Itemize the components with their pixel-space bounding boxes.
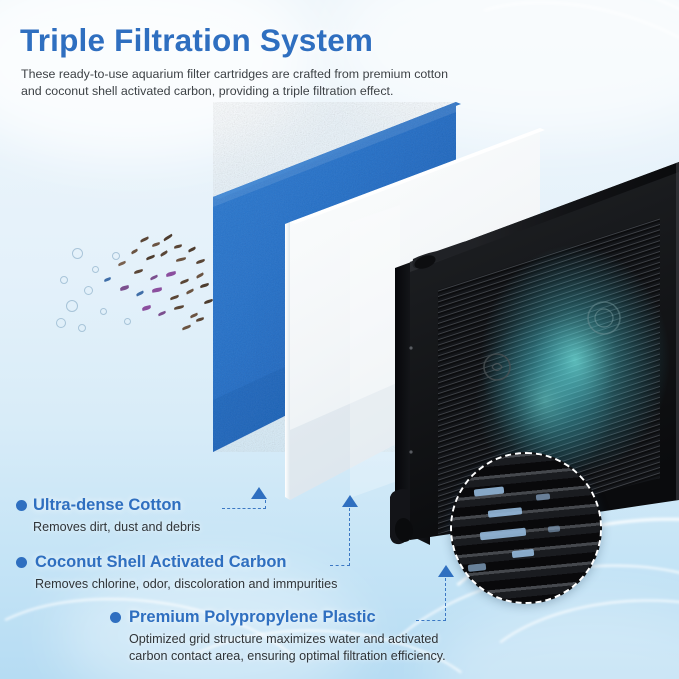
leader-line-2-riser xyxy=(349,508,350,566)
bullet-dot-icon xyxy=(16,500,27,511)
leader-line-1 xyxy=(222,508,266,509)
leader-arrow-2 xyxy=(342,495,358,507)
callout-ultra-dense-cotton: Ultra-dense Cotton Removes dirt, dust an… xyxy=(16,496,200,536)
bullet-dot-icon xyxy=(110,612,121,623)
callout-1-title: Ultra-dense Cotton xyxy=(33,496,182,515)
callout-premium-polypropylene: Premium Polypropylene Plastic Optimized … xyxy=(110,608,446,664)
callout-1-desc: Removes dirt, dust and debris xyxy=(33,519,200,536)
callout-2-desc: Removes chlorine, odor, discoloration an… xyxy=(35,576,337,593)
page-title: Triple Filtration System xyxy=(20,22,373,59)
callout-3-title: Premium Polypropylene Plastic xyxy=(129,608,376,627)
leader-line-3 xyxy=(416,620,446,621)
leader-line-1-riser xyxy=(265,500,266,509)
page-subtitle: These ready-to-use aquarium filter cartr… xyxy=(21,66,451,99)
bullet-dot-icon xyxy=(16,557,27,568)
callout-3-desc-line1: Optimized grid structure maximizes water… xyxy=(129,631,446,648)
callout-2-title: Coconut Shell Activated Carbon xyxy=(35,553,287,572)
product-infographic: Ultra-dense Cotton Removes dirt, dust an… xyxy=(0,0,679,679)
leader-line-2 xyxy=(330,565,350,566)
leader-line-3-riser xyxy=(445,578,446,621)
callout-coconut-shell-carbon: Coconut Shell Activated Carbon Removes c… xyxy=(16,553,337,593)
leader-arrow-3 xyxy=(438,565,454,577)
callout-3-desc-line2: carbon contact area, ensuring optimal fi… xyxy=(129,648,446,665)
leader-arrow-1 xyxy=(251,487,267,499)
grid-detail-magnifier xyxy=(450,452,602,604)
